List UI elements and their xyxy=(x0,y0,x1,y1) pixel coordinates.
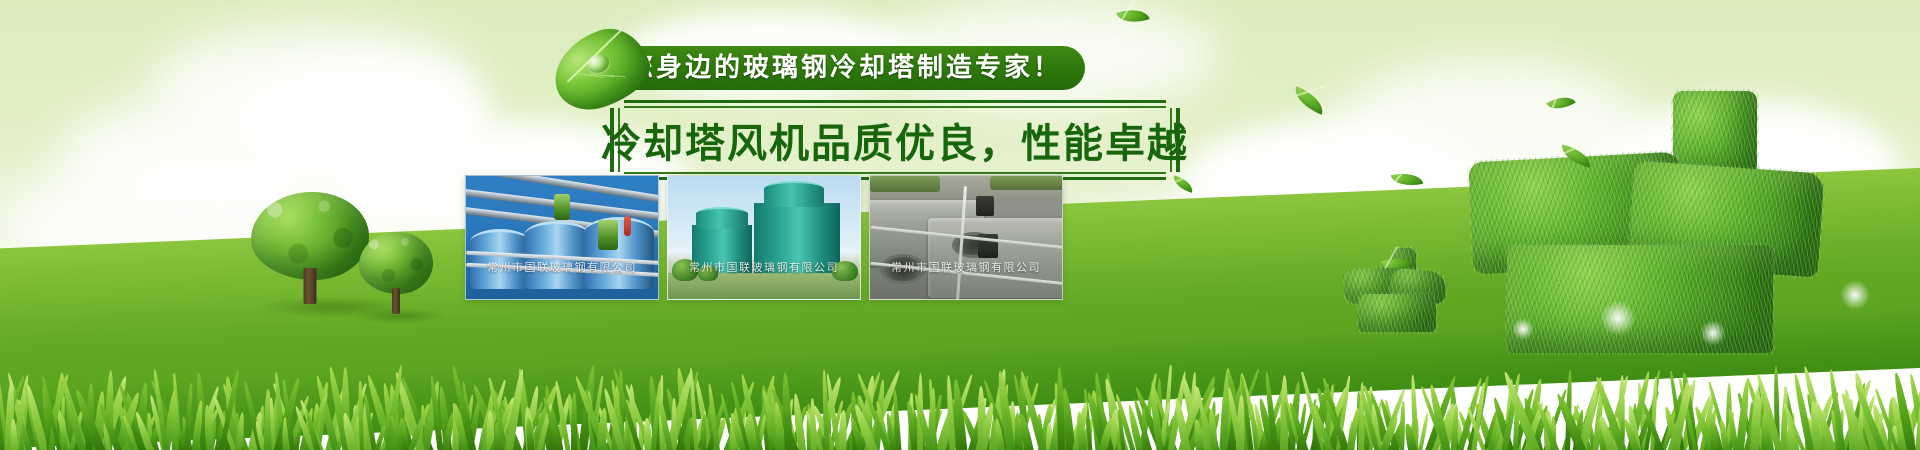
promo-banner: 您身边的玻璃钢冷却塔制造专家！ 冷却塔风机品质优良，性能卓越 常州市国联玻璃 xyxy=(0,0,1920,450)
photo-watermark: 常州市国联玻璃钢有限公司 xyxy=(466,259,658,275)
tree-large xyxy=(250,192,370,304)
headline-text: 冷却塔风机品质优良，性能卓越 xyxy=(632,100,1158,180)
tagline-text: 您身边的玻璃钢冷却塔制造专家！ xyxy=(627,46,1062,90)
grass-house xyxy=(1445,85,1845,345)
product-photo-1[interactable]: 常州市国联玻璃钢有限公司 xyxy=(465,175,659,300)
product-photo-strip: 常州市国联玻璃钢有限公司 常州市国联玻璃钢有限公司 xyxy=(465,175,1063,300)
product-photo-2[interactable]: 常州市国联玻璃钢有限公司 xyxy=(667,175,861,300)
water-droplet-icon xyxy=(585,52,611,76)
photo-watermark: 常州市国联玻璃钢有限公司 xyxy=(870,259,1062,275)
product-photo-3[interactable]: 常州市国联玻璃钢有限公司 xyxy=(869,175,1063,300)
sparkle-icon xyxy=(1600,300,1636,336)
headline-frame: 冷却塔风机品质优良，性能卓越 xyxy=(610,100,1180,180)
sparkle-icon xyxy=(1700,320,1726,346)
photo-watermark: 常州市国联玻璃钢有限公司 xyxy=(668,259,860,275)
sparkle-icon xyxy=(1840,280,1870,310)
tree-small xyxy=(358,232,434,314)
sparkle-icon xyxy=(1512,318,1534,340)
